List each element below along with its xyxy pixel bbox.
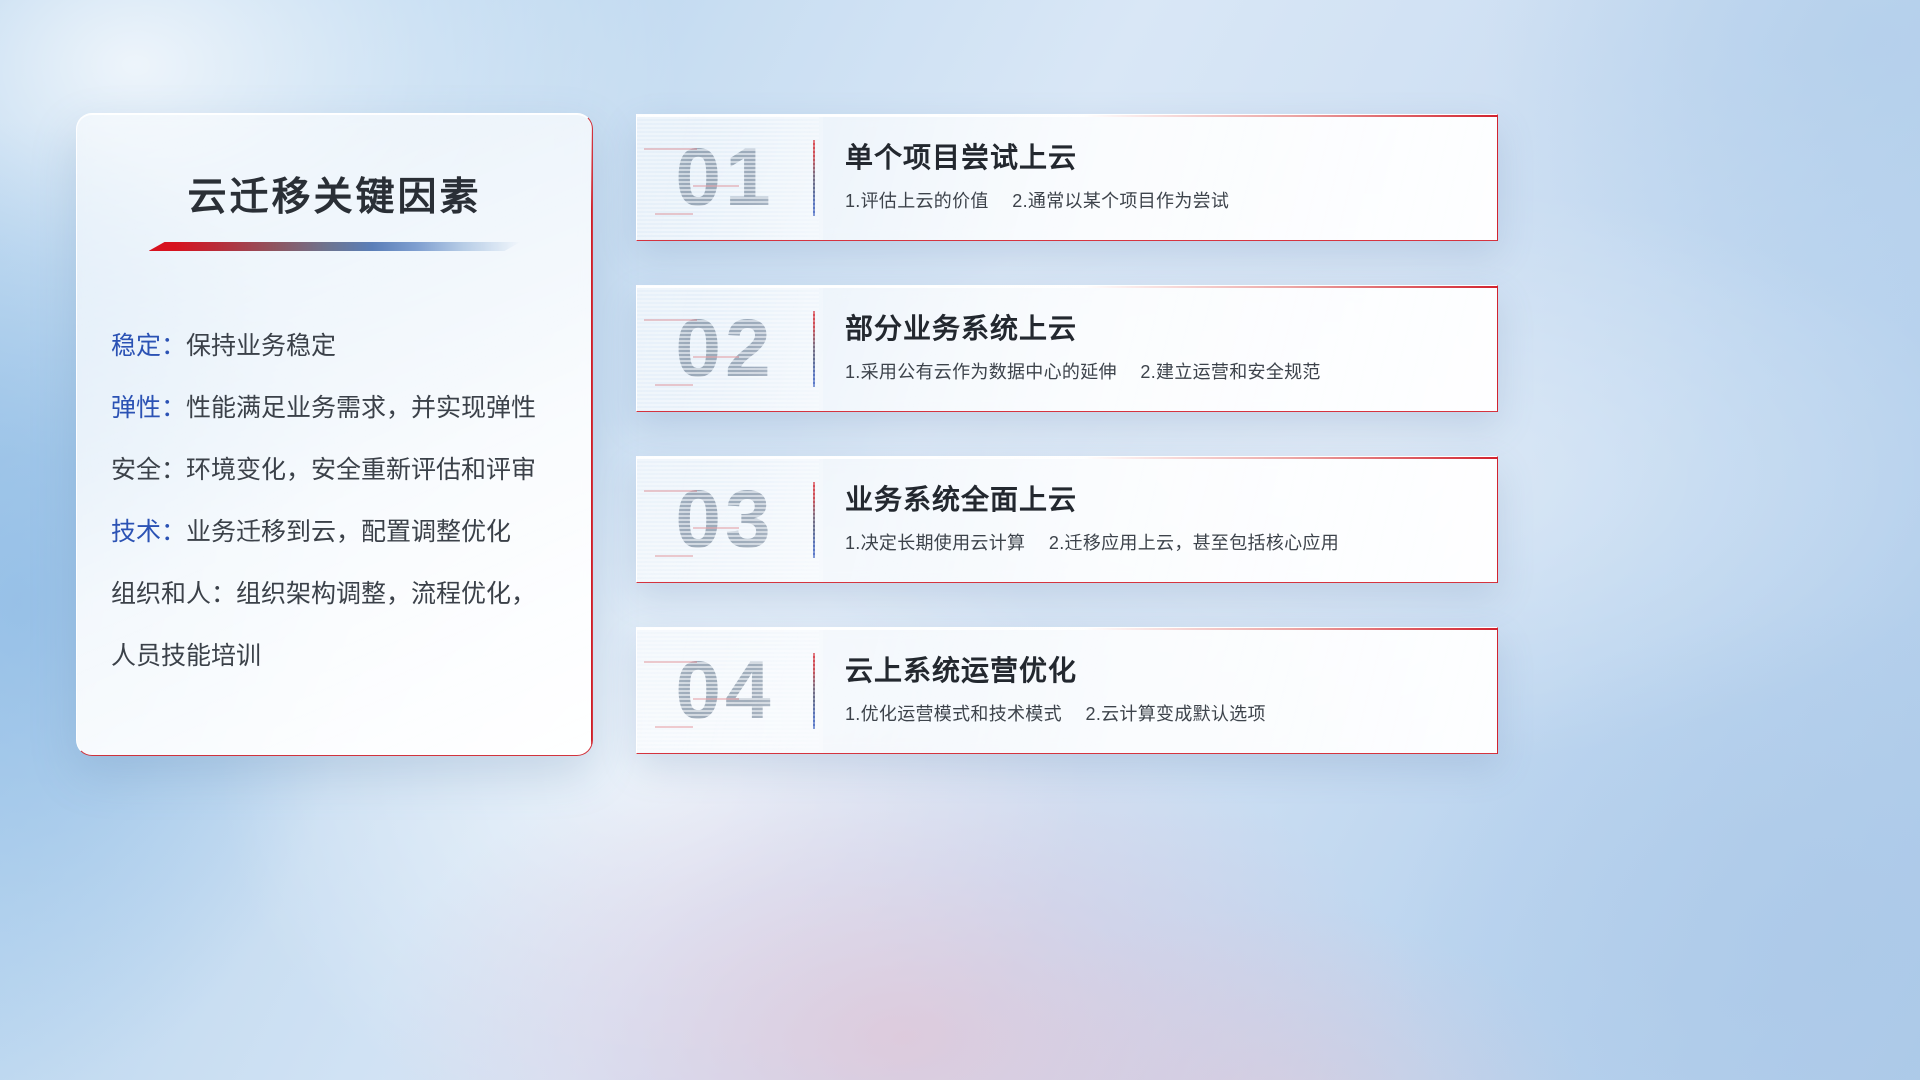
page-title: 云迁移关键因素	[77, 166, 592, 222]
step-description: 1.采用公有云作为数据中心的延伸 2.建立运营和安全规范	[845, 358, 1471, 384]
step-title: 单个项目尝试上云	[845, 142, 1471, 174]
factor-key: 弹性：	[111, 394, 186, 422]
step-accent-divider	[813, 653, 815, 729]
factor-key: 安全：	[111, 456, 186, 484]
step-number-01: 01 01	[637, 115, 813, 240]
key-factors-panel: 云迁移关键因素 稳定：保持业务稳定 弹性：性能满足业务需求，并实现弹性 安全：环…	[76, 113, 593, 756]
step-body: 云上系统运营优化 1.优化运营模式和技术模式 2.云计算变成默认选项	[845, 655, 1497, 726]
step-description: 1.评估上云的价值 2.通常以某个项目作为尝试	[845, 187, 1471, 213]
title-underline-bar	[149, 242, 521, 251]
step-number-overlay: 03	[637, 457, 813, 582]
factor-value: 性能满足业务需求，并实现弹性	[186, 394, 536, 422]
step-card-03[interactable]: 03 03 业务系统全面上云 1.决定长期使用云计算 2.迁移应用上云，甚至包括…	[636, 456, 1498, 583]
step-body: 业务系统全面上云 1.决定长期使用云计算 2.迁移应用上云，甚至包括核心应用	[845, 484, 1497, 555]
factor-key: 技术：	[111, 518, 186, 546]
step-body: 部分业务系统上云 1.采用公有云作为数据中心的延伸 2.建立运营和安全规范	[845, 313, 1497, 384]
list-item: 弹性：性能满足业务需求，并实现弹性	[111, 377, 554, 439]
step-accent-divider	[813, 482, 815, 558]
step-card-02[interactable]: 02 02 部分业务系统上云 1.采用公有云作为数据中心的延伸 2.建立运营和安…	[636, 285, 1498, 412]
list-item: 技术：业务迁移到云，配置调整优化	[111, 501, 554, 563]
step-number-04: 04 04	[637, 628, 813, 753]
step-number-overlay: 01	[637, 115, 813, 240]
factor-value: 环境变化，安全重新评估和评审	[186, 456, 536, 484]
factor-value: 组织架构调整，流程优化，	[236, 580, 536, 608]
list-item: 人员技能培训	[111, 625, 554, 687]
factor-key: 组织和人：	[111, 580, 236, 608]
step-number-overlay: 04	[637, 628, 813, 753]
title-underline-rule	[149, 242, 521, 251]
step-body: 单个项目尝试上云 1.评估上云的价值 2.通常以某个项目作为尝试	[845, 142, 1497, 213]
step-accent-divider	[813, 140, 815, 216]
step-title: 部分业务系统上云	[845, 313, 1471, 345]
factor-key: 稳定：	[111, 332, 186, 360]
list-item: 组织和人：组织架构调整，流程优化，	[111, 563, 554, 625]
step-title: 云上系统运营优化	[845, 655, 1471, 687]
factor-value: 人员技能培训	[111, 642, 261, 670]
step-card-01[interactable]: 01 01 单个项目尝试上云 1.评估上云的价值 2.通常以某个项目作为尝试	[636, 114, 1498, 241]
step-description: 1.决定长期使用云计算 2.迁移应用上云，甚至包括核心应用	[845, 529, 1471, 555]
factor-value: 保持业务稳定	[186, 332, 336, 360]
step-description: 1.优化运营模式和技术模式 2.云计算变成默认选项	[845, 700, 1471, 726]
step-accent-divider	[813, 311, 815, 387]
step-number-03: 03 03	[637, 457, 813, 582]
step-card-04[interactable]: 04 04 云上系统运营优化 1.优化运营模式和技术模式 2.云计算变成默认选项	[636, 627, 1498, 754]
step-title: 业务系统全面上云	[845, 484, 1471, 516]
list-item: 安全：环境变化，安全重新评估和评审	[111, 439, 554, 501]
list-item: 稳定：保持业务稳定	[111, 315, 554, 377]
factor-list: 稳定：保持业务稳定 弹性：性能满足业务需求，并实现弹性 安全：环境变化，安全重新…	[77, 315, 592, 687]
factor-value: 业务迁移到云，配置调整优化	[186, 518, 511, 546]
step-number-overlay: 02	[637, 286, 813, 411]
step-number-02: 02 02	[637, 286, 813, 411]
slide-canvas: 云迁移关键因素 稳定：保持业务稳定 弹性：性能满足业务需求，并实现弹性 安全：环…	[0, 0, 1920, 1080]
migration-steps-list: 01 01 单个项目尝试上云 1.评估上云的价值 2.通常以某个项目作为尝试 0…	[636, 114, 1498, 754]
